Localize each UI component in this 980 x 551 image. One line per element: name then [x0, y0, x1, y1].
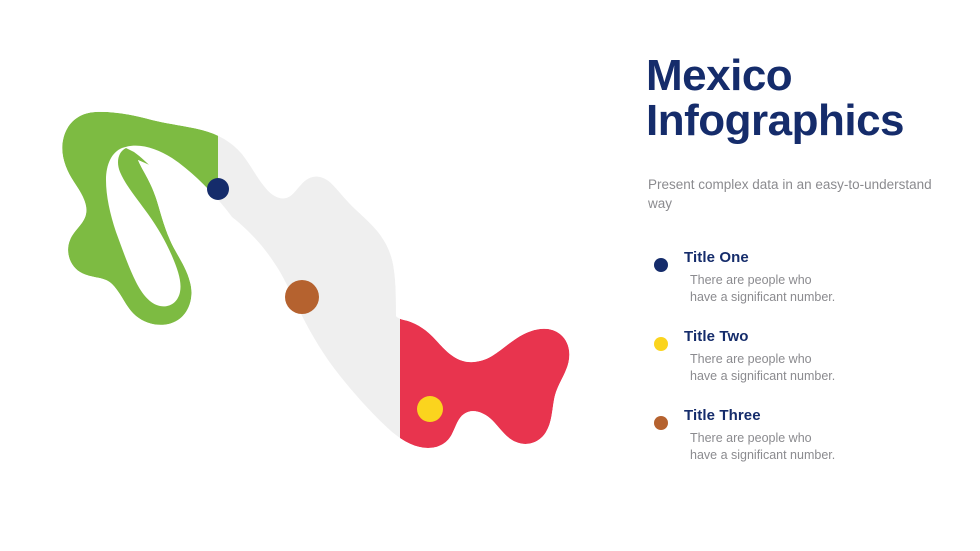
- bullet-icon-three: [654, 416, 668, 430]
- legend-description-two: There are people who have a significant …: [684, 351, 966, 386]
- legend-title-three: Title Three: [684, 408, 966, 425]
- bullet-icon-two: [654, 337, 668, 351]
- legend-item-three[interactable]: Title Three There are people who have a …: [646, 408, 966, 464]
- content-panel: Mexico Infographics Present complex data…: [646, 0, 966, 551]
- legend-title-two: Title Two: [684, 329, 966, 346]
- map-band-red: [400, 0, 620, 551]
- bullet-icon-one: [654, 258, 668, 272]
- map-band-green: [0, 0, 218, 551]
- map-band-gray: [218, 0, 400, 551]
- legend-item-two[interactable]: Title Two There are people who have a si…: [646, 329, 966, 385]
- page-title: Mexico Infographics: [646, 54, 966, 144]
- legend-item-one[interactable]: Title One There are people who have a si…: [646, 250, 966, 306]
- mexico-map-figure: [0, 0, 620, 551]
- legend-list: Title One There are people who have a si…: [646, 250, 966, 487]
- map-marker-three[interactable]: [285, 280, 319, 314]
- legend-description-three: There are people who have a significant …: [684, 430, 966, 465]
- legend-title-one: Title One: [684, 250, 966, 267]
- title-line-2: Infographics: [646, 99, 966, 144]
- map-marker-two[interactable]: [417, 396, 443, 422]
- slide-canvas: Mexico Infographics Present complex data…: [0, 0, 980, 551]
- legend-description-one: There are people who have a significant …: [684, 272, 966, 307]
- map-marker-one[interactable]: [207, 178, 229, 200]
- page-subtitle: Present complex data in an easy-to-under…: [648, 176, 948, 213]
- title-line-1: Mexico: [646, 54, 966, 99]
